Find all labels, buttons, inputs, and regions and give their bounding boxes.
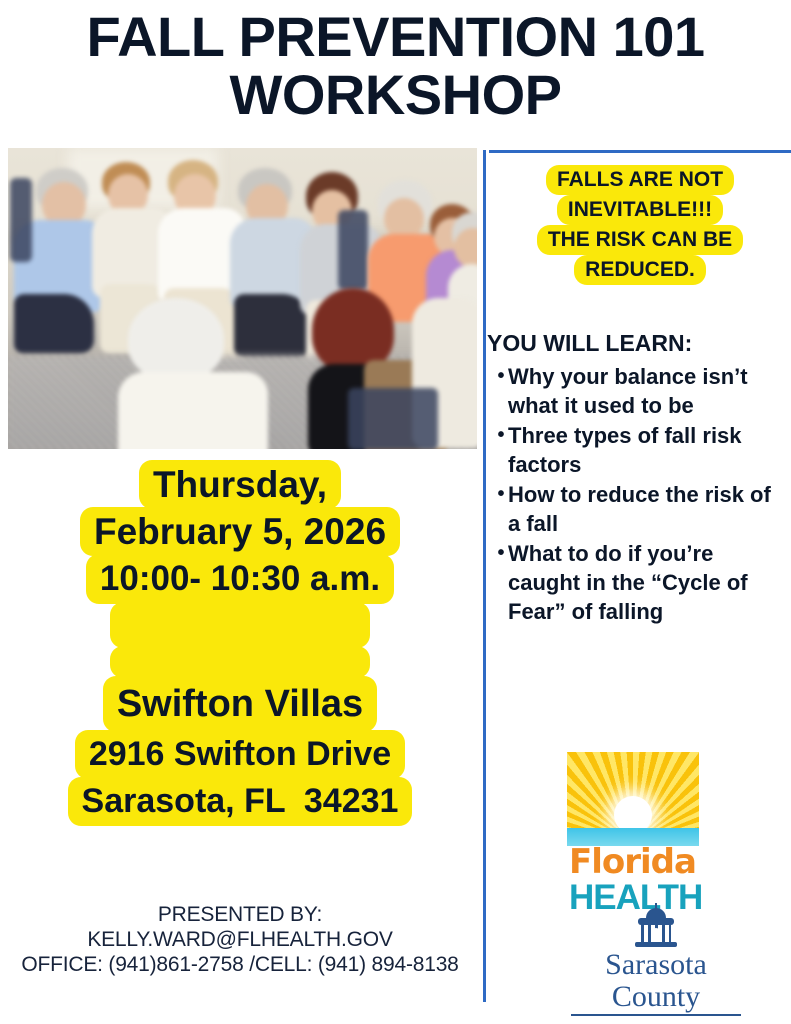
callout-line-4: REDUCED. xyxy=(574,255,706,285)
you-will-learn-list: • Why your balance isn’t what it used to… xyxy=(494,362,784,627)
list-item: • Three types of fall risk factors xyxy=(494,421,784,479)
workshop-audience-photo xyxy=(8,148,477,449)
title-line-1: FALL PREVENTION 101 xyxy=(0,8,791,66)
bullet-icon: • xyxy=(494,421,508,450)
event-date: February 5, 2026 xyxy=(80,507,400,556)
gazebo-icon xyxy=(633,908,679,948)
event-time: 10:00- 10:30 a.m. xyxy=(86,554,394,604)
event-city-state-zip: Sarasota, FL 34231 xyxy=(68,777,413,826)
bullet-icon: • xyxy=(494,480,508,509)
list-item: • Why your balance isn’t what it used to… xyxy=(494,362,784,420)
florida-wordmark: Florida xyxy=(569,844,699,880)
list-item: • What to do if you’re caught in the “Cy… xyxy=(494,539,784,626)
list-item-label: Why your balance isn’t what it used to b… xyxy=(508,362,784,420)
event-address: 2916 Swifton Drive xyxy=(75,730,405,779)
photo-chair-foreground xyxy=(348,388,438,449)
presenter-email[interactable]: KELLY.WARD@FLHEALTH.GOV xyxy=(0,927,480,952)
sarasota-county-wordmark: Sarasota County xyxy=(567,949,745,1013)
page-title: FALL PREVENTION 101 WORKSHOP xyxy=(0,8,791,124)
divider-horizontal xyxy=(489,150,791,153)
event-day: Thursday, xyxy=(139,460,341,509)
callout-line-1: FALLS ARE NOT xyxy=(546,165,734,195)
list-item-label: What to do if you’re caught in the “Cycl… xyxy=(508,539,784,626)
event-spacer-2 xyxy=(110,646,370,678)
bullet-icon: • xyxy=(494,362,508,391)
list-item-label: Three types of fall risk factors xyxy=(508,421,784,479)
event-details: Thursday, February 5, 2026 10:00- 10:30 … xyxy=(0,462,480,826)
flyer-page: FALL PREVENTION 101 WORKSHOP xyxy=(0,0,791,1024)
callout-line-3: THE RISK CAN BE xyxy=(537,225,743,255)
presenter-phones[interactable]: OFFICE: (941)861-2758 /CELL: (941) 894-8… xyxy=(0,952,480,977)
event-spacer-1 xyxy=(110,602,370,648)
sarasota-underline xyxy=(571,1014,741,1016)
florida-health-logo: Florida HEALTH xyxy=(567,752,699,916)
photo-chair xyxy=(338,210,368,290)
presented-by-label: PRESENTED BY: xyxy=(0,902,480,927)
title-line-2: WORKSHOP xyxy=(0,66,791,124)
falls-callout: FALLS ARE NOT INEVITABLE!!! THE RISK CAN… xyxy=(489,165,791,285)
sunburst-icon xyxy=(567,752,699,846)
bullet-icon: • xyxy=(494,539,508,568)
presenter-contact: PRESENTED BY: KELLY.WARD@FLHEALTH.GOV OF… xyxy=(0,902,480,977)
photo-chair xyxy=(10,178,32,262)
list-item: • How to reduce the risk of a fall xyxy=(494,480,784,538)
you-will-learn-heading: YOU WILL LEARN: xyxy=(487,330,692,357)
water-band-icon xyxy=(567,828,699,846)
sarasota-county-logo: Sarasota County xyxy=(567,908,745,1016)
divider-vertical xyxy=(483,150,486,1002)
callout-line-2: INEVITABLE!!! xyxy=(557,195,723,225)
event-venue: Swifton Villas xyxy=(103,676,377,732)
list-item-label: How to reduce the risk of a fall xyxy=(508,480,784,538)
